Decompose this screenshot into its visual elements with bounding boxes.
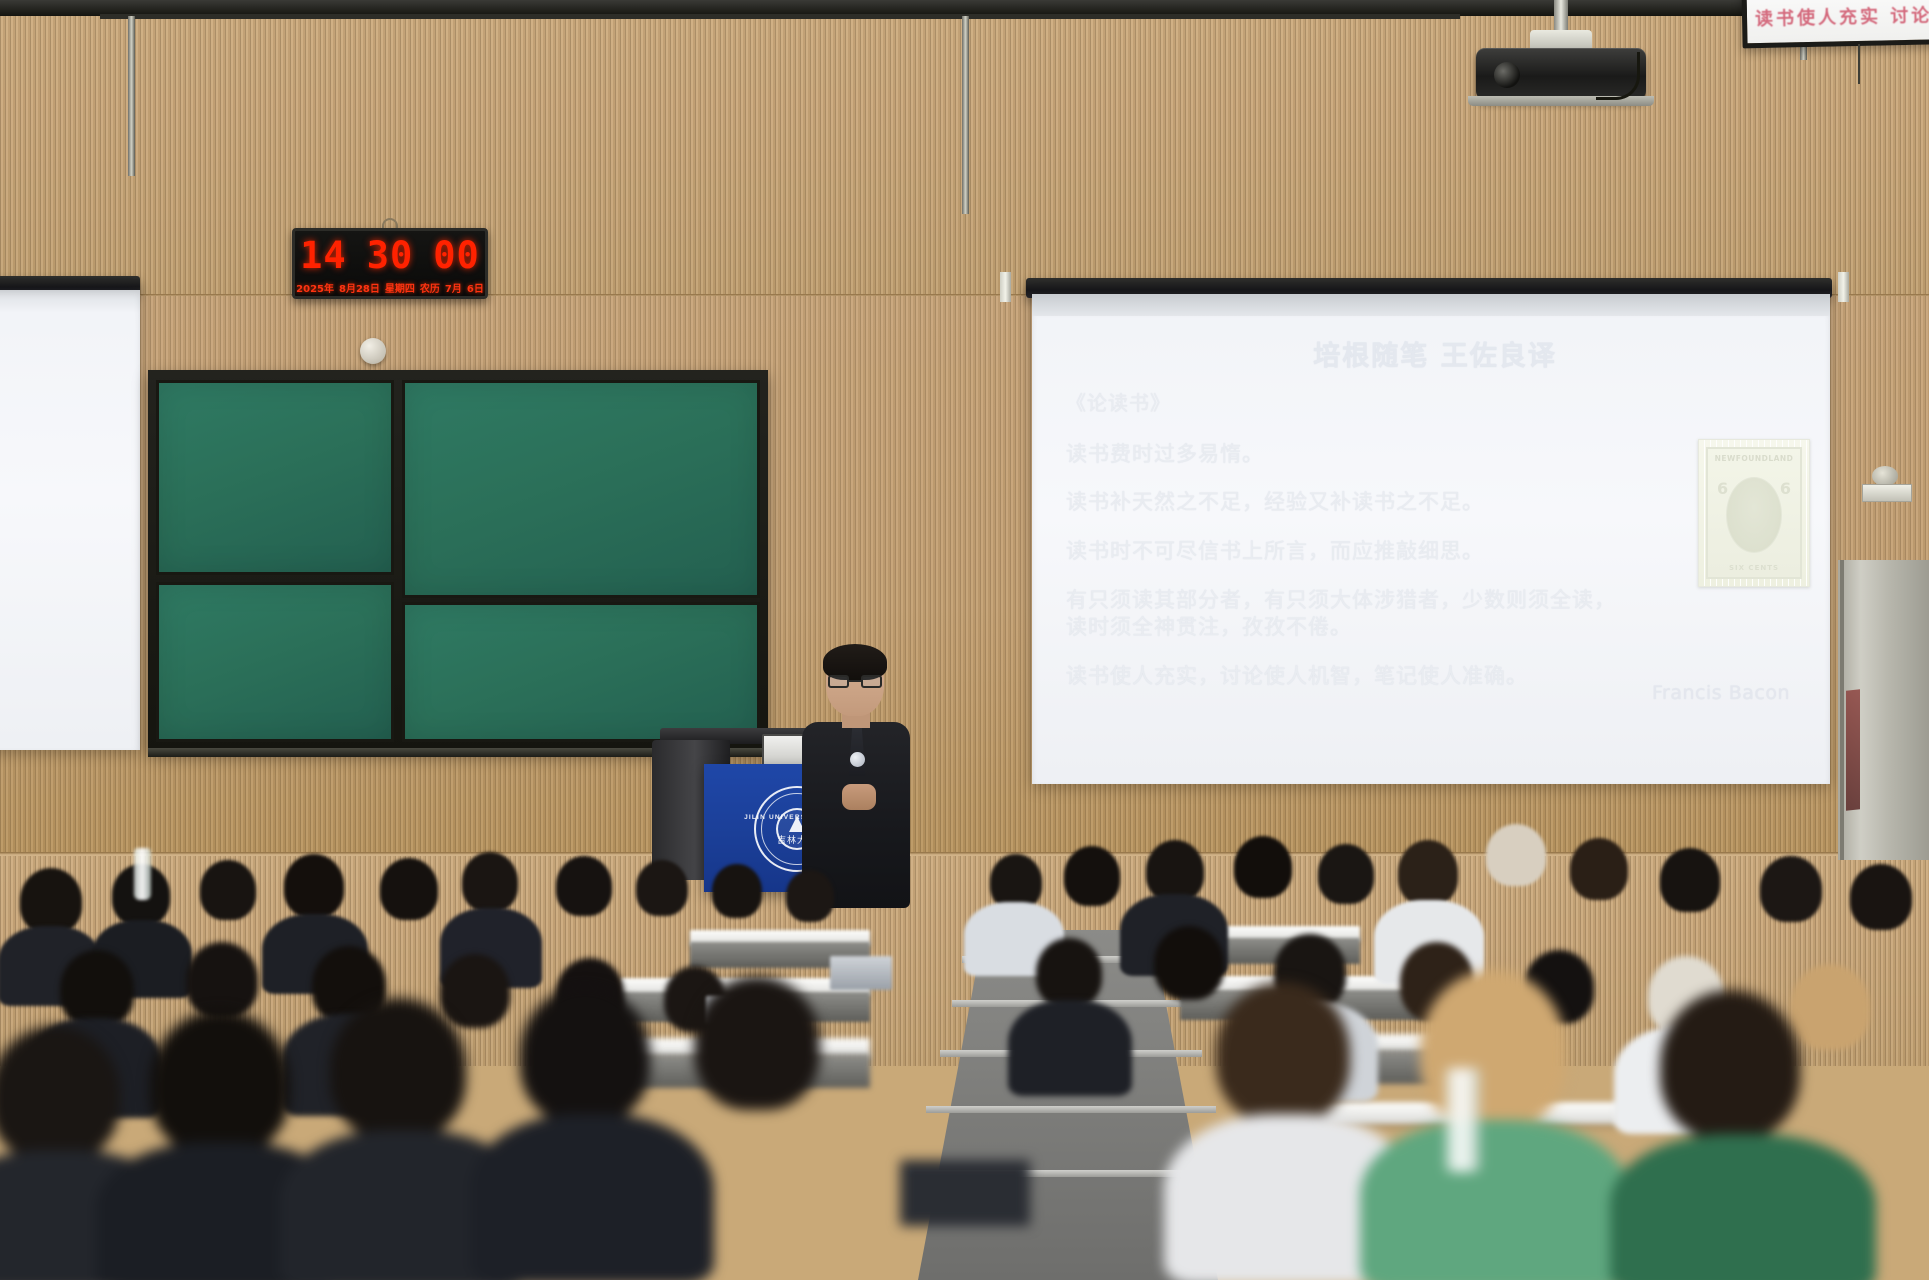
- foreground-head: [0, 1026, 120, 1162]
- audience-head: [1234, 836, 1292, 898]
- audience-head: [1036, 938, 1102, 1008]
- board-panel-upper-right: [402, 380, 760, 598]
- clock-lunar-day: 6日: [467, 280, 484, 295]
- audience-head: [1660, 848, 1720, 912]
- banner-text: 读书使人充实 讨论: [1755, 1, 1929, 31]
- slide-title: 培根随笔 王佐良译: [1066, 334, 1804, 373]
- audience-head-cap: [1486, 824, 1546, 886]
- audience-head: [636, 860, 688, 916]
- digital-clock-icon: 14 30 00 2025年 8月28日 星期四 农历 7月 6日: [292, 228, 488, 299]
- foreground-head: [1216, 982, 1350, 1124]
- ceiling-sensor-icon: [360, 338, 386, 364]
- foreground-bottle: [1446, 1068, 1480, 1172]
- audience-head: [1760, 856, 1822, 922]
- banner-screen-top-right: 读书使人充实 讨论: [1741, 0, 1929, 48]
- screen-bracket-right: [1838, 272, 1849, 302]
- audience-head: [556, 856, 612, 916]
- slide-content: 培根随笔 王佐良译 NEWFOUNDLAND 6 6 SIX CENTS 《论读…: [1032, 316, 1830, 784]
- audience-head: [1398, 840, 1458, 906]
- audience-head: [712, 864, 762, 918]
- lecture-hall-photo: 14 30 00 2025年 8月28日 星期四 农历 7月 6日 读书使人充实…: [0, 0, 1929, 1280]
- stamp-value-right: 6: [1780, 479, 1791, 498]
- audience-head: [380, 858, 438, 920]
- lecturer-hands: [842, 784, 876, 810]
- clock-date-monthday: 8月28日: [339, 280, 380, 295]
- door-red-sign: [1846, 689, 1860, 810]
- foreground-audience-row: [0, 1010, 1929, 1280]
- clock-lunar-month: 7月: [445, 280, 462, 295]
- audience-head: [284, 854, 344, 918]
- clock-seconds: 00: [433, 237, 480, 274]
- foreground-head: [694, 976, 820, 1110]
- side-door-edge: [1840, 560, 1844, 860]
- audience-head: [20, 868, 82, 934]
- foreground-head: [1660, 990, 1800, 1140]
- banner-drop-cord: [1858, 44, 1860, 84]
- slide-line-3: 读书时不可尽信书上所言，而应推敲细思。: [1066, 538, 1626, 565]
- stamp-value-left: 6: [1717, 479, 1728, 498]
- water-bottle: [134, 848, 151, 900]
- foreground-head: [150, 1010, 290, 1156]
- ceiling-rail-secondary: [100, 14, 1460, 19]
- clock-weekday: 星期四: [385, 280, 415, 295]
- stamp-portrait-oval: [1726, 477, 1782, 553]
- audience-head: [1146, 840, 1204, 902]
- clock-lunar-label: 农历: [420, 280, 440, 295]
- audience-head: [1570, 838, 1628, 900]
- foreground-shoulders: [1360, 1120, 1630, 1280]
- slide-line-1: 读书费时过多易惰。: [1066, 441, 1626, 468]
- clock-hours: 14: [300, 237, 347, 274]
- slide-credit-author: Francis Bacon: [1652, 682, 1790, 704]
- slide-line-5: 读书使人充实，讨论使人机智，笔记使人准确。: [1066, 663, 1626, 690]
- audience-head: [186, 942, 258, 1018]
- screen-bracket-left: [1000, 272, 1011, 302]
- slide-line-2: 读书补天然之不足，经验又补读书之不足。: [1066, 489, 1626, 516]
- board-panel-lower-right: [402, 602, 760, 742]
- rail-drop-mid: [962, 16, 969, 214]
- clock-minutes: 30: [367, 237, 414, 274]
- wall-speaker-bracket: [1862, 484, 1912, 502]
- board-panel-lower-left: [156, 582, 394, 742]
- audience-head: [1064, 846, 1120, 906]
- audience-head: [1154, 926, 1224, 1000]
- screen-top-shade: [1032, 294, 1830, 316]
- lecturer-glasses-icon: [828, 675, 882, 688]
- clock-time-display: 14 30 00: [295, 231, 485, 274]
- lecturer-badge: [850, 752, 865, 767]
- left-projection-screen: OLAND 6 Bacon: [0, 290, 140, 750]
- foreground-laptop: [900, 1160, 1030, 1226]
- stamp-denomination-label: SIX CENTS: [1729, 564, 1779, 572]
- audience-head: [200, 860, 256, 920]
- slide-heading: 《论读书》: [1066, 391, 1626, 417]
- slide-stamp-image: NEWFOUNDLAND 6 6 SIX CENTS: [1698, 439, 1810, 587]
- rail-drop-left: [128, 16, 135, 176]
- stamp-country-label: NEWFOUNDLAND: [1715, 454, 1794, 463]
- blackboard-frame: [148, 370, 768, 752]
- clock-date-year: 2025年: [296, 280, 334, 295]
- slide-body: NEWFOUNDLAND 6 6 SIX CENTS 《论读书》 读书费时过多易…: [1066, 391, 1804, 690]
- foreground-head: [1420, 970, 1566, 1130]
- audience-head: [786, 870, 834, 922]
- projector-mount-pole: [1554, 0, 1568, 34]
- clock-date-display: 2025年 8月28日 星期四 农历 7月 6日: [295, 280, 485, 295]
- projector-lens-icon: [1494, 62, 1520, 88]
- foreground-shoulders: [470, 1114, 714, 1280]
- foreground-head: [520, 986, 650, 1124]
- wall-speaker-icon: [1872, 466, 1898, 486]
- foreground-shoulders: [1610, 1134, 1876, 1280]
- board-panel-upper-left: [156, 380, 394, 575]
- audience-head: [462, 852, 518, 912]
- foreground-head: [330, 998, 466, 1140]
- left-slide-content: OLAND 6 Bacon: [0, 290, 140, 750]
- slide-line-4: 有只须读其部分者，有只须大体涉猎者，少数则须全读，读时须全神贯注，孜孜不倦。: [1066, 587, 1626, 641]
- audience-head: [1850, 864, 1912, 930]
- audience-head: [1318, 844, 1374, 904]
- laptop-device: [830, 956, 892, 990]
- main-projection-screen: 培根随笔 王佐良译 NEWFOUNDLAND 6 6 SIX CENTS 《论读…: [1032, 294, 1830, 784]
